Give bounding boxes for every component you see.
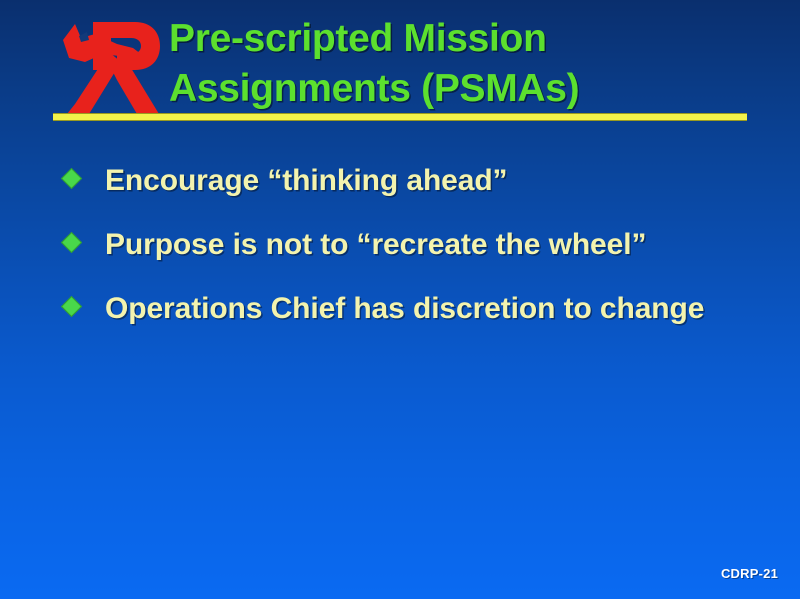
list-item-text: Encourage “thinking ahead” [105, 158, 715, 204]
presentation-slide: Pre-scripted Mission Assignments (PSMAs)… [0, 0, 800, 599]
title-line-2: Assignments (PSMAs) [169, 64, 747, 114]
diamond-bullet-icon [62, 169, 81, 188]
list-item: Purpose is not to “recreate the wheel” [62, 222, 742, 268]
title-underline-rule [53, 113, 747, 121]
title-line-1: Pre-scripted Mission [169, 14, 747, 64]
list-item: Operations Chief has discretion to chang… [62, 286, 742, 332]
list-item: Encourage “thinking ahead” [62, 158, 742, 204]
list-item-text: Operations Chief has discretion to chang… [105, 286, 715, 332]
red-r-eagle-logo-icon [59, 18, 167, 118]
slide-title-block: Pre-scripted Mission Assignments (PSMAs) [53, 14, 747, 118]
list-item-text: Purpose is not to “recreate the wheel” [105, 222, 715, 268]
slide-footer-label: CDRP-21 [721, 566, 778, 581]
diamond-bullet-icon [62, 297, 81, 316]
diamond-bullet-icon [62, 233, 81, 252]
page-title: Pre-scripted Mission Assignments (PSMAs) [169, 14, 747, 114]
bullet-list: Encourage “thinking ahead” Purpose is no… [62, 158, 742, 332]
